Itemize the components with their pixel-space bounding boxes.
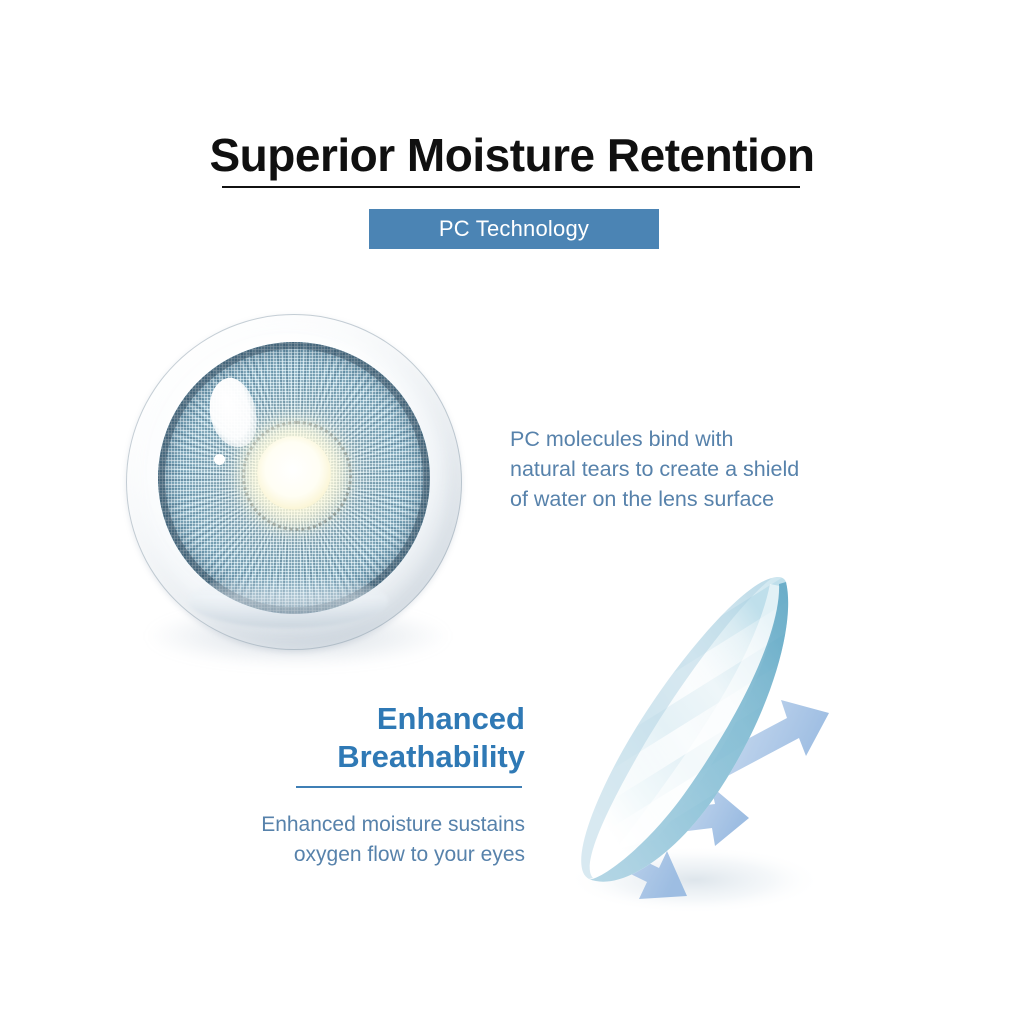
page-title: Superior Moisture Retention (0, 128, 1024, 182)
breathability-description: Enhanced moisture sustains oxygen flow t… (180, 810, 525, 870)
breathability-heading-line-1: Enhanced (180, 700, 525, 738)
breathability-description-line-1: Enhanced moisture sustains (180, 810, 525, 840)
lens-glass-bottom-rim (188, 574, 388, 628)
moisture-description-line-1: PC molecules bind with (510, 424, 870, 454)
lens-specular-dot (214, 454, 225, 465)
title-underline-rule (222, 186, 800, 188)
breathability-underline-rule (296, 786, 522, 788)
breathability-heading: Enhanced Breathability (180, 700, 525, 776)
moisture-description-line-2: natural tears to create a shield (510, 454, 870, 484)
pc-technology-badge: PC Technology (369, 209, 659, 249)
lens-cross-section-graphic (575, 550, 935, 920)
infographic-canvas: Superior Moisture Retention PC Technolog… (0, 0, 1024, 1024)
lens-pupil-highlight (257, 436, 331, 510)
moisture-description-line-3: of water on the lens surface (510, 484, 870, 514)
contact-lens-image (118, 306, 474, 662)
breathability-heading-line-2: Breathability (180, 738, 525, 776)
breathability-description-line-2: oxygen flow to your eyes (180, 840, 525, 870)
pc-technology-badge-label: PC Technology (439, 216, 589, 242)
moisture-description: PC molecules bind with natural tears to … (510, 424, 870, 514)
